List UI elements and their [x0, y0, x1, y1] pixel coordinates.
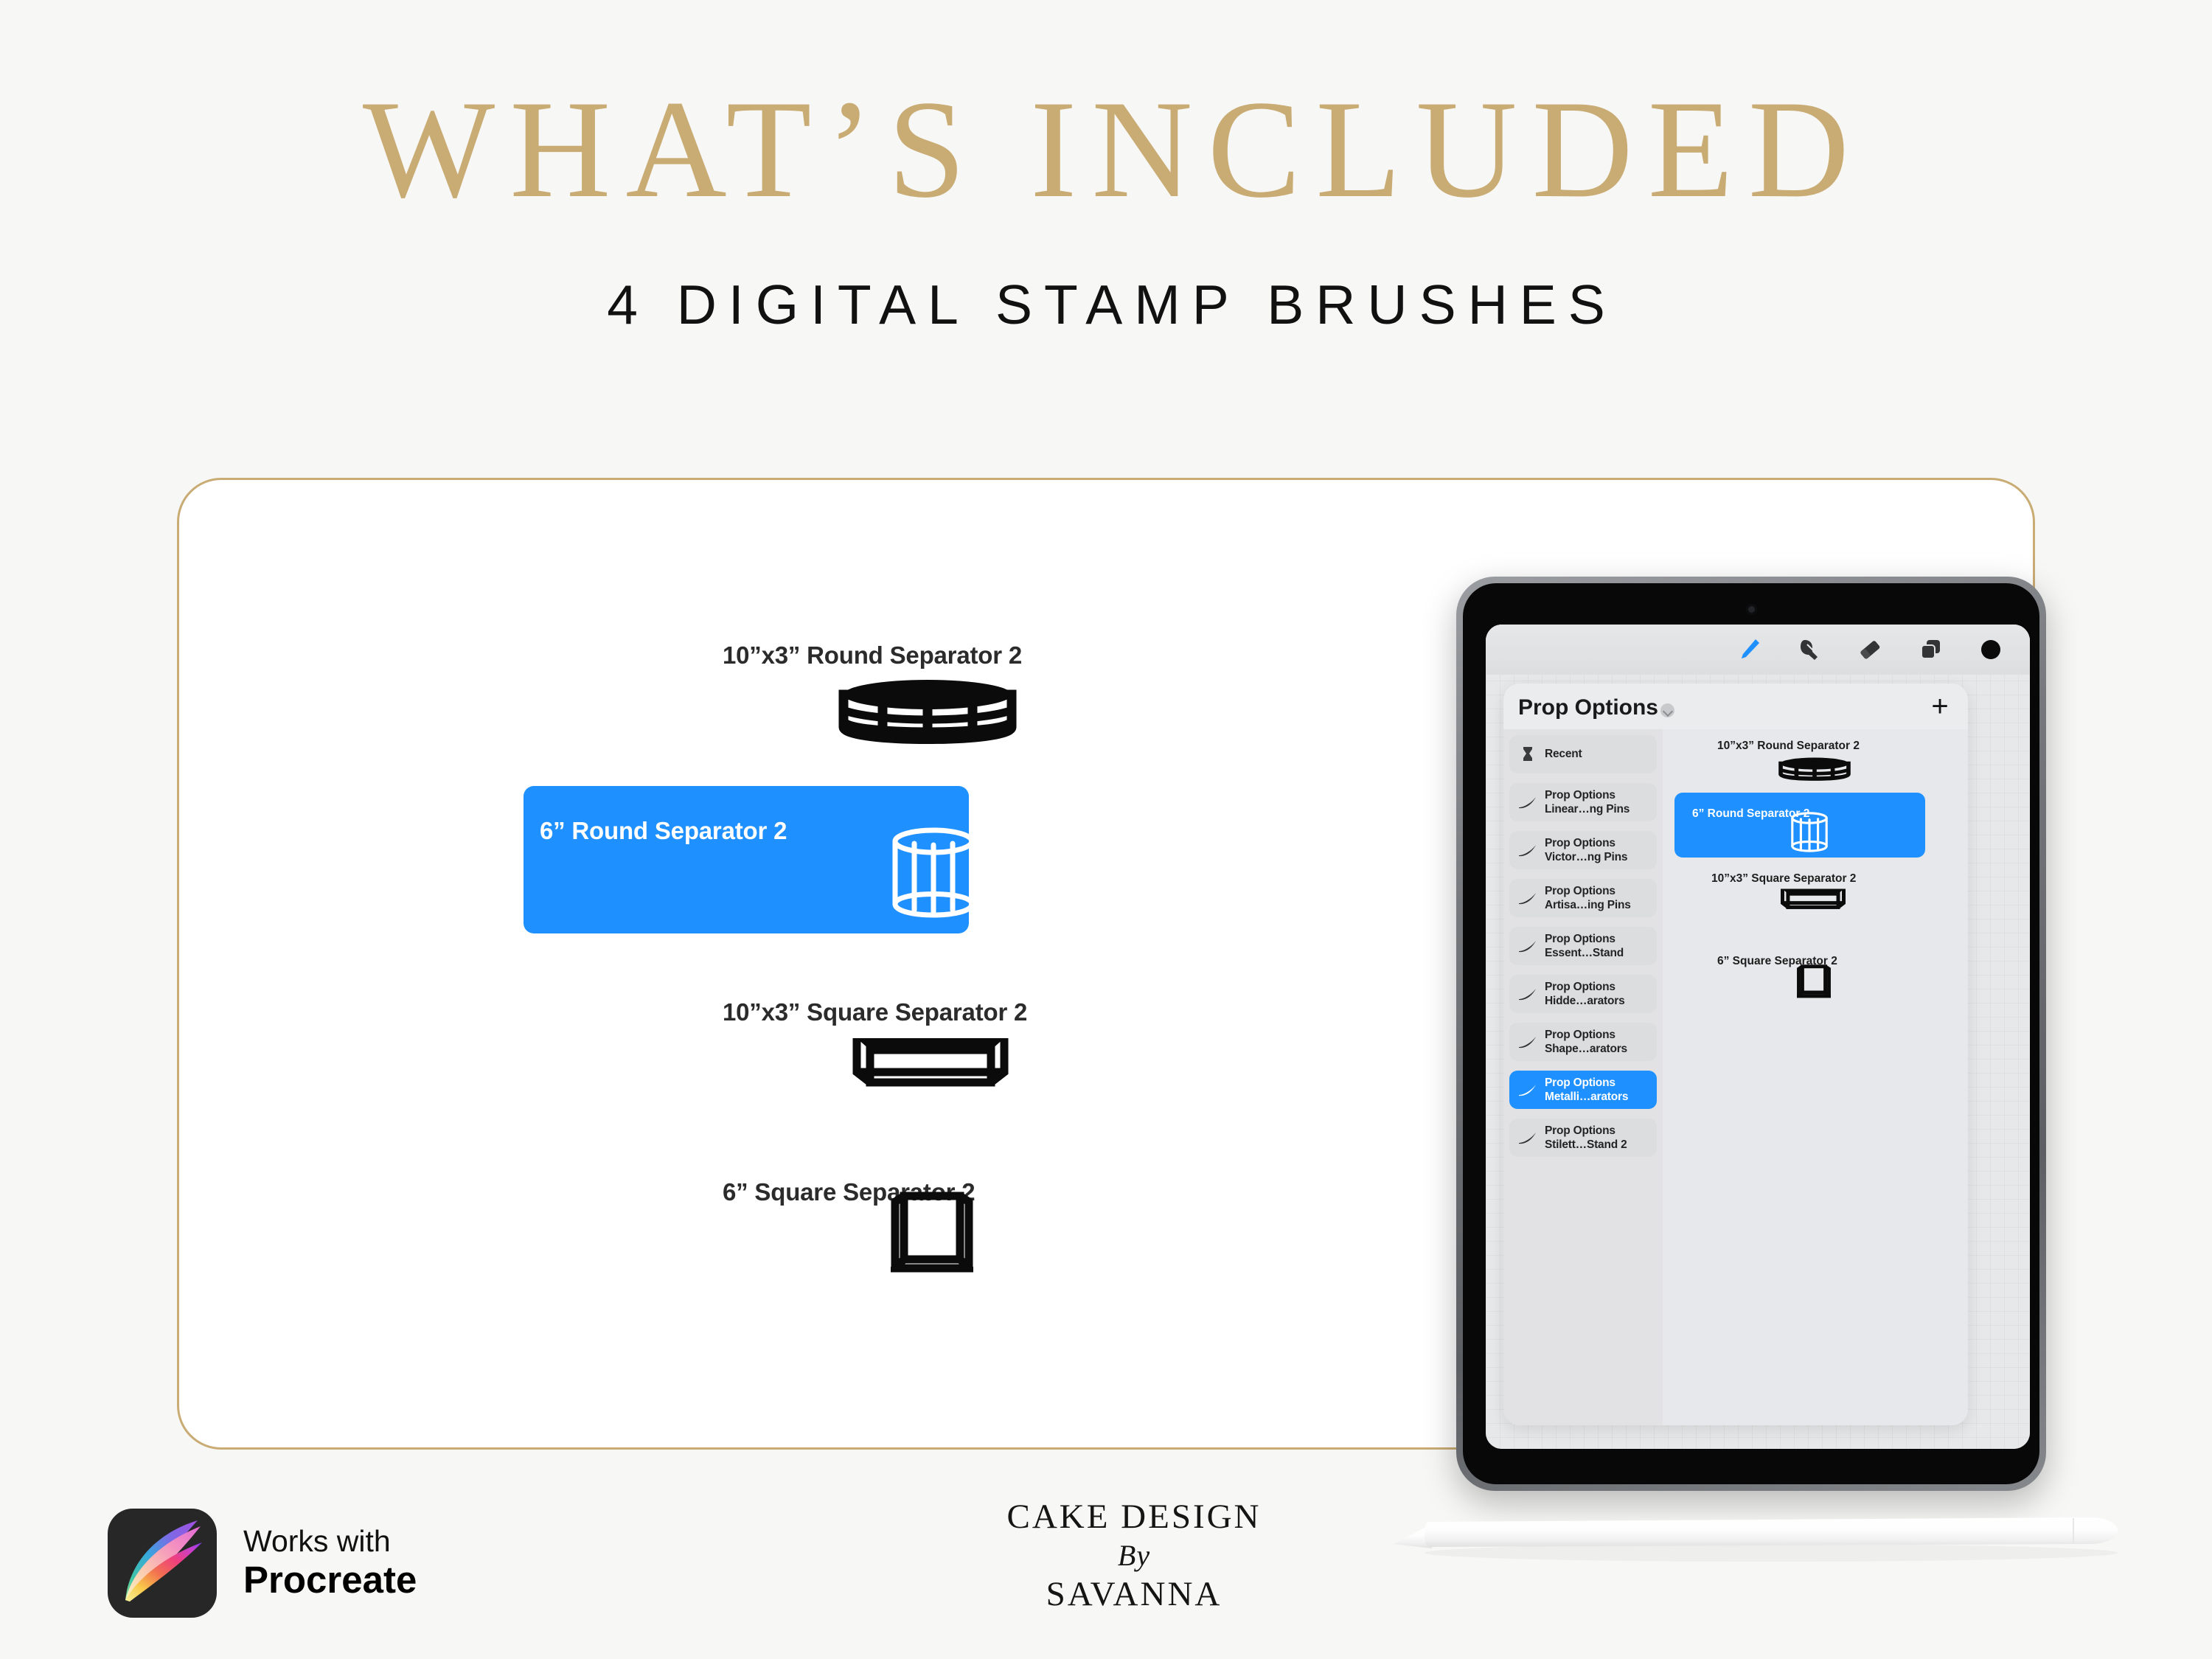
round-tall-separator-icon	[1788, 812, 1831, 858]
brush-set-line1: Prop Options	[1545, 788, 1630, 802]
brush-set-line2: Shape…arators	[1545, 1042, 1627, 1056]
brush-set-line1: Prop Options	[1545, 1124, 1627, 1138]
brush-set-label: Prop Options Essent…Stand	[1545, 932, 1624, 961]
brush-set-stiletto-stand[interactable]: Prop Options Stilett…Stand 2	[1509, 1119, 1657, 1157]
ipad-bezel: Prop Options + Recent	[1463, 583, 2039, 1484]
round-tall-separator-icon	[886, 827, 981, 927]
brush-set-label: Prop Options Linear…ng Pins	[1545, 788, 1630, 817]
procreate-badge: Works with Procreate	[108, 1509, 417, 1618]
brush-stroke-icon	[1517, 887, 1539, 909]
brush-panel-header: Prop Options +	[1503, 684, 1968, 732]
brush-set-line2: Essent…Stand	[1545, 946, 1624, 960]
procreate-logo	[108, 1509, 217, 1618]
brush-set-label: Prop Options Metalli…arators	[1545, 1076, 1628, 1105]
brush-set-line1: Prop Options	[1545, 932, 1624, 946]
brush-set-metallic-separators[interactable]: Prop Options Metalli…arators	[1509, 1071, 1657, 1109]
signature-by: By	[928, 1538, 1340, 1573]
ipad-screen: Prop Options + Recent	[1486, 625, 2030, 1449]
brush-set-recent[interactable]: Recent	[1509, 735, 1657, 773]
brush-set-shape-separators[interactable]: Prop Options Shape…arators	[1509, 1023, 1657, 1061]
procreate-toolbar	[1486, 625, 2030, 675]
page-subtitle: 4 DIGITAL STAMP BRUSHES	[0, 273, 2212, 336]
brush-set-label: Recent	[1545, 747, 1582, 761]
brush-stroke-icon	[1517, 935, 1539, 957]
brush-list[interactable]: 10”x3” Round Separator 2	[1663, 729, 1968, 1425]
brush-set-label: Prop Options Hidde…arators	[1545, 980, 1625, 1009]
brush-stroke-icon	[1517, 1127, 1539, 1149]
works-with-label: Works with	[243, 1525, 417, 1559]
hourglass-icon	[1517, 743, 1539, 765]
brush-set-victorian-pins[interactable]: Prop Options Victor…ng Pins	[1509, 831, 1657, 869]
brush-stroke-icon	[1517, 1079, 1539, 1101]
preview-label: 6” Round Separator 2	[540, 817, 787, 845]
brush-icon[interactable]	[1735, 636, 1763, 664]
procreate-text: Works with Procreate	[243, 1525, 417, 1601]
brush-set-hidden-separators[interactable]: Prop Options Hidde…arators	[1509, 975, 1657, 1013]
square-tall-separator-icon	[891, 1186, 973, 1279]
brush-preview-stack: 10”x3” Round Separator 2 6” Round Separa…	[177, 478, 1327, 1450]
brush-stroke-icon	[1517, 791, 1539, 813]
signature-line1: CAKE DESIGN	[928, 1497, 1340, 1537]
brush-set-label: Prop Options Artisa…ing Pins	[1545, 884, 1631, 913]
brush-library-panel: Prop Options + Recent	[1503, 684, 1968, 1425]
eraser-icon[interactable]	[1856, 636, 1884, 664]
brush-set-line1: Prop Options	[1545, 1028, 1627, 1042]
brush-set-line2: Artisa…ing Pins	[1545, 898, 1631, 912]
brush-set-line1: Prop Options	[1545, 836, 1627, 850]
square-wide-separator-icon	[852, 1034, 1009, 1099]
brush-set-line2: Hidde…arators	[1545, 994, 1625, 1008]
color-icon[interactable]	[1977, 636, 2005, 664]
signature-line2: SAVANNA	[928, 1574, 1340, 1614]
round-wide-separator-icon	[1778, 756, 1851, 790]
layers-icon[interactable]	[1916, 636, 1944, 664]
add-brush-button[interactable]: +	[1928, 696, 1952, 720]
brush-set-artisan-pins[interactable]: Prop Options Artisa…ing Pins	[1509, 879, 1657, 917]
brush-set-linear-pins[interactable]: Prop Options Linear…ng Pins	[1509, 783, 1657, 821]
brush-stroke-icon	[1517, 1031, 1539, 1053]
brush-set-label: Prop Options Stilett…Stand 2	[1545, 1124, 1627, 1152]
brand-signature: CAKE DESIGN By SAVANNA	[928, 1497, 1340, 1614]
brush-item-label: 10”x3” Square Separator 2	[1711, 872, 1856, 886]
brush-set-line1: Recent	[1545, 747, 1582, 761]
brush-set-essential-stand[interactable]: Prop Options Essent…Stand	[1509, 927, 1657, 965]
brush-item-label: 10”x3” Round Separator 2	[1717, 740, 1860, 753]
page-header: WHAT’S INCLUDED 4 DIGITAL STAMP BRUSHES	[0, 0, 2212, 336]
brush-set-label: Prop Options Victor…ng Pins	[1545, 836, 1627, 865]
preview-label: 10”x3” Square Separator 2	[723, 998, 1027, 1026]
square-wide-separator-icon	[1781, 887, 1846, 917]
brush-set-line2: Victor…ng Pins	[1545, 850, 1627, 864]
brush-set-line2: Stilett…Stand 2	[1545, 1138, 1627, 1152]
chevron-down-icon[interactable]	[1660, 703, 1674, 717]
ipad-device: Prop Options + Recent	[1456, 577, 2046, 1491]
brush-stroke-icon	[1517, 983, 1539, 1005]
brush-set-line1: Prop Options	[1545, 980, 1625, 994]
brush-panel-title: Prop Options	[1518, 695, 1658, 720]
brush-set-label: Prop Options Shape…arators	[1545, 1028, 1627, 1057]
preview-label: 10”x3” Round Separator 2	[723, 641, 1022, 669]
brush-set-line1: Prop Options	[1545, 1076, 1628, 1090]
brush-set-line2: Metalli…arators	[1545, 1090, 1628, 1104]
brush-set-line1: Prop Options	[1545, 884, 1631, 898]
brush-stroke-icon	[1517, 839, 1539, 861]
square-tall-separator-icon	[1797, 962, 1831, 1003]
apple-pencil	[1388, 1510, 2138, 1566]
round-wide-separator-icon	[836, 675, 1019, 756]
procreate-name: Procreate	[243, 1559, 417, 1601]
page-title: WHAT’S INCLUDED	[0, 80, 2212, 220]
smudge-icon[interactable]	[1795, 636, 1823, 664]
brush-set-line2: Linear…ng Pins	[1545, 802, 1630, 816]
front-camera-icon	[1746, 604, 1757, 615]
brush-set-sidebar[interactable]: Recent Prop Options Linear…ng Pins	[1503, 729, 1663, 1425]
